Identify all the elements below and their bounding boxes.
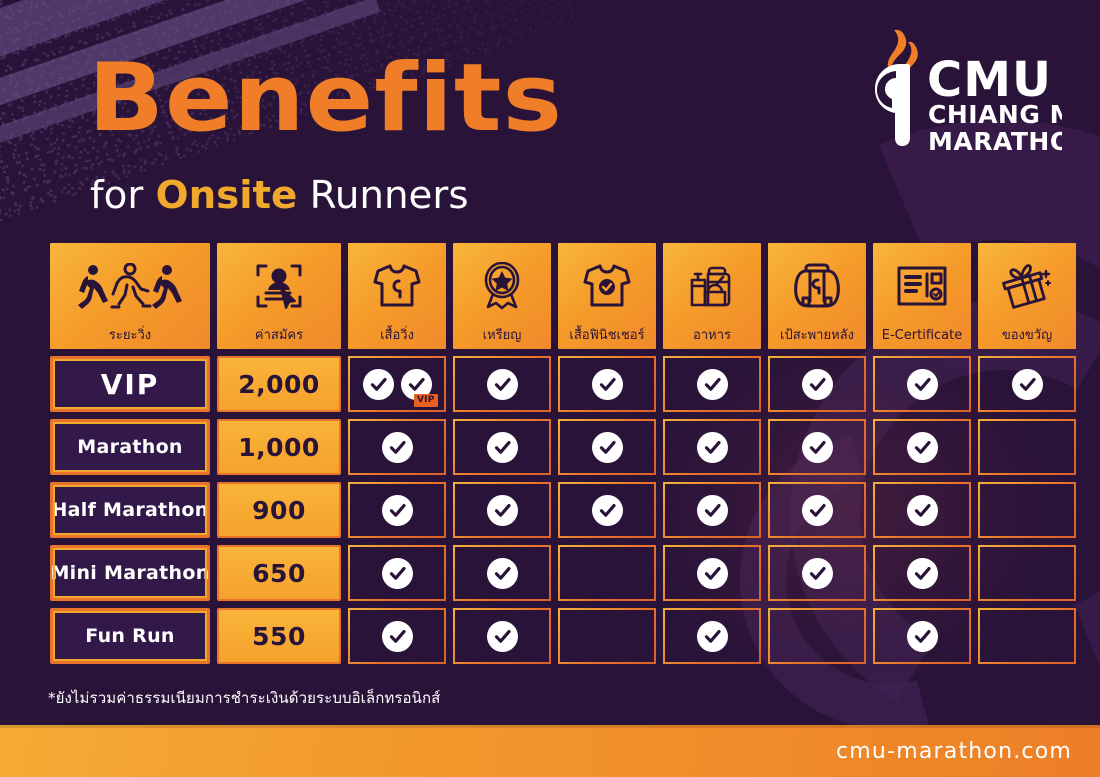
cell-distance: VIP	[50, 356, 210, 412]
check-icon	[592, 369, 623, 400]
fee-value: 1,000	[238, 433, 320, 462]
table-row: Mini Marathon650	[50, 545, 1048, 601]
cell-fee: 2,000	[217, 356, 341, 412]
table-row: Fun Run550	[50, 608, 1048, 664]
column-header-backpack: เป้สะพายหลัง	[768, 243, 866, 349]
fee-value: 2,000	[238, 370, 320, 399]
cell-distance: Fun Run	[50, 608, 210, 664]
cell-fee: 550	[217, 608, 341, 664]
check-icon	[697, 558, 728, 589]
column-header-gift: ของขวัญ	[978, 243, 1076, 349]
cell-benefit-medal	[453, 356, 551, 412]
runner-middle	[112, 264, 150, 307]
column-label-finisher: เสื้อฟินิชเชอร์	[569, 329, 644, 342]
poster-canvas: Benefits for Onsite Runners CMU CHIANG M…	[0, 0, 1100, 777]
column-label-race-shirt: เสื้อวิ่ง	[380, 329, 414, 342]
check-icon	[487, 558, 518, 589]
cell-benefit-gift	[978, 545, 1076, 601]
column-header-ecertificate: E-Certificate	[873, 243, 971, 349]
cell-benefit-food	[663, 419, 761, 475]
cell-benefit-race_shirt	[348, 608, 446, 664]
cell-benefit-gift	[978, 419, 1076, 475]
distance-label: Marathon	[77, 436, 183, 458]
column-label-distance: ระยะวิ่ง	[109, 329, 151, 342]
column-label-ecertificate: E-Certificate	[882, 329, 962, 342]
bottom-bar: cmu-marathon.com	[0, 725, 1100, 777]
column-header-race-shirt: เสื้อวิ่ง	[348, 243, 446, 349]
cell-benefit-finisher	[558, 482, 656, 538]
distance-label: Half Marathon	[51, 499, 208, 521]
column-header-distance: ระยะวิ่ง	[50, 243, 210, 349]
logo-hook-mark	[875, 64, 910, 146]
check-icon	[1012, 369, 1043, 400]
cell-benefit-ecert	[873, 482, 971, 538]
subtitle-highlight: Onsite	[156, 173, 298, 217]
registration-icon	[217, 243, 341, 329]
cell-benefit-gift	[978, 482, 1076, 538]
gift-icon	[978, 243, 1076, 329]
cell-benefit-food	[663, 608, 761, 664]
cell-benefit-gift	[978, 608, 1076, 664]
check-icon	[382, 621, 413, 652]
vip-badge: VIP	[414, 394, 438, 407]
check-icon	[697, 495, 728, 526]
cell-benefit-backpack	[768, 482, 866, 538]
cell-benefit-race_shirt: VIP	[348, 356, 446, 412]
cell-benefit-ecert	[873, 419, 971, 475]
table-row: Half Marathon900	[50, 482, 1048, 538]
check-icon	[487, 621, 518, 652]
subtitle-post: Runners	[297, 173, 468, 217]
column-label-gift: ของขวัญ	[1002, 329, 1052, 342]
cell-benefit-backpack	[768, 419, 866, 475]
check-icon	[802, 432, 833, 463]
distance-label: Mini Marathon	[50, 562, 209, 584]
certificate-icon	[873, 243, 971, 329]
footnote-text: *ยังไม่รวมค่าธรรมเนียมการชำระเงินด้วยระบ…	[48, 686, 440, 710]
cell-benefit-finisher	[558, 419, 656, 475]
svg-text:MARATHON: MARATHON	[928, 127, 1062, 156]
check-icon	[697, 621, 728, 652]
column-label-backpack: เป้สะพายหลัง	[780, 329, 854, 342]
cell-benefit-medal	[453, 482, 551, 538]
runner-right	[152, 265, 182, 309]
cell-benefit-ecert	[873, 356, 971, 412]
cell-fee: 650	[217, 545, 341, 601]
check-icon	[592, 432, 623, 463]
check-icon	[697, 369, 728, 400]
runners-icon	[50, 243, 210, 329]
check-icon	[802, 495, 833, 526]
food-bag-icon	[663, 243, 761, 329]
cell-benefit-race_shirt	[348, 545, 446, 601]
check-icon	[487, 369, 518, 400]
tshirt-cmu-icon	[348, 243, 446, 329]
column-header-finisher: เสื้อฟินิชเชอร์	[558, 243, 656, 349]
cell-benefit-race_shirt	[348, 419, 446, 475]
cell-benefit-backpack	[768, 608, 866, 664]
table-row: Marathon1,000	[50, 419, 1048, 475]
cell-distance: Half Marathon	[50, 482, 210, 538]
column-label-food: อาหาร	[693, 329, 731, 342]
distance-label: Fun Run	[85, 625, 174, 647]
cell-benefit-race_shirt	[348, 482, 446, 538]
check-icon	[907, 369, 938, 400]
column-header-fee: ค่าสมัคร	[217, 243, 341, 349]
subtitle-pre: for	[90, 173, 156, 217]
cell-benefit-finisher	[558, 356, 656, 412]
cell-benefit-medal	[453, 608, 551, 664]
cell-benefit-ecert	[873, 545, 971, 601]
check-icon	[382, 495, 413, 526]
check-icon	[363, 369, 394, 400]
column-header-food: อาหาร	[663, 243, 761, 349]
check-icon	[802, 558, 833, 589]
cell-distance: Marathon	[50, 419, 210, 475]
cell-fee: 900	[217, 482, 341, 538]
check-icon	[382, 558, 413, 589]
check-icon	[907, 558, 938, 589]
column-label-fee: ค่าสมัคร	[255, 329, 303, 342]
benefits-table: ระยะวิ่ง ค่าสมัคร	[50, 243, 1048, 671]
table-row: VIP2,000VIP	[50, 356, 1048, 412]
check-icon	[487, 495, 518, 526]
check-icon	[907, 495, 938, 526]
page-title: Benefits	[88, 52, 563, 146]
cell-benefit-food	[663, 482, 761, 538]
cell-benefit-food	[663, 545, 761, 601]
cell-benefit-gift	[978, 356, 1076, 412]
svg-text:CHIANG MAI: CHIANG MAI	[928, 100, 1062, 129]
check-icon	[802, 369, 833, 400]
poster-header: Benefits for Onsite Runners CMU CHIANG M…	[0, 0, 1100, 230]
page-subtitle: for Onsite Runners	[90, 176, 469, 214]
runner-left	[78, 265, 108, 309]
table-header-row: ระยะวิ่ง ค่าสมัคร	[50, 243, 1048, 349]
table-body: VIP2,000VIPMarathon1,000Half Marathon900…	[50, 356, 1048, 664]
medal-star-icon	[453, 243, 551, 329]
vip-double-check: VIP	[363, 369, 432, 400]
check-icon	[697, 432, 728, 463]
check-icon	[907, 432, 938, 463]
tshirt-check-icon	[558, 243, 656, 329]
website-url[interactable]: cmu-marathon.com	[836, 739, 1100, 764]
cell-benefit-finisher	[558, 608, 656, 664]
cell-distance: Mini Marathon	[50, 545, 210, 601]
logo-svg: CMU CHIANG MAI MARATHON	[852, 24, 1062, 174]
column-header-medal: เหรียญ	[453, 243, 551, 349]
fee-value: 550	[252, 622, 306, 651]
backpack-icon	[768, 243, 866, 329]
check-icon	[487, 432, 518, 463]
distance-label: VIP	[101, 368, 160, 401]
check-icon	[907, 621, 938, 652]
cell-benefit-backpack	[768, 356, 866, 412]
cell-benefit-medal	[453, 419, 551, 475]
cell-benefit-ecert	[873, 608, 971, 664]
column-label-medal: เหรียญ	[483, 329, 522, 342]
check-icon	[382, 432, 413, 463]
cell-benefit-finisher	[558, 545, 656, 601]
fee-value: 650	[252, 559, 306, 588]
cell-benefit-food	[663, 356, 761, 412]
cell-benefit-medal	[453, 545, 551, 601]
fee-value: 900	[252, 496, 306, 525]
cell-benefit-backpack	[768, 545, 866, 601]
check-icon	[592, 495, 623, 526]
cmu-marathon-logo: CMU CHIANG MAI MARATHON	[852, 24, 1062, 174]
cell-fee: 1,000	[217, 419, 341, 475]
logo-wordmark: CMU CHIANG MAI MARATHON	[927, 52, 1062, 156]
